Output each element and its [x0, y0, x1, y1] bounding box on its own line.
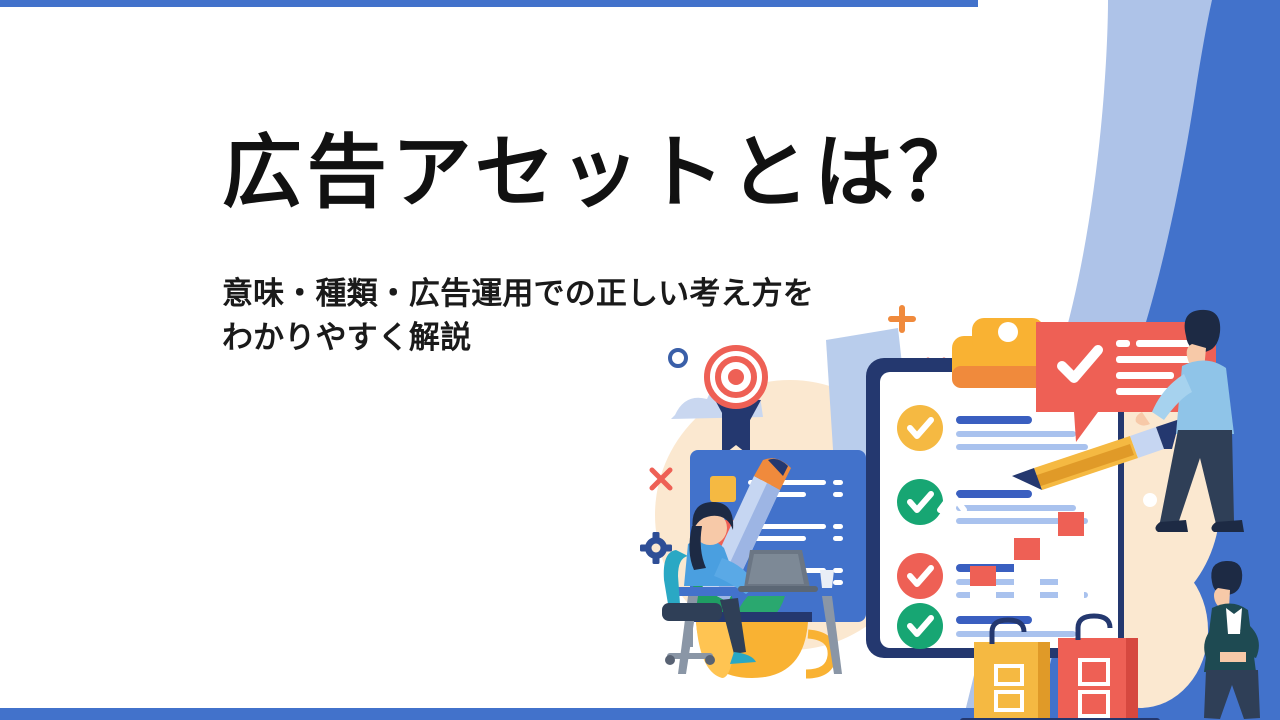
page-title: 広告アセットとは？ [222, 128, 962, 218]
shirt [1176, 360, 1234, 434]
decor-dot-white [1143, 493, 1157, 507]
hands [1220, 652, 1246, 662]
page-subtitle: 意味・種類・広告運用での正しい考え方を わかりやすく解説 [222, 272, 962, 360]
chair-seat [662, 603, 722, 621]
text-block: 広告アセットとは？ 意味・種類・広告運用での正しい考え方を わかりやすく解説 [222, 128, 962, 360]
subtitle-line-2: わかりやすく解説 [222, 316, 962, 360]
subtitle-line-1: 意味・種類・広告運用での正しい考え方を [222, 272, 962, 316]
laptop-base [738, 586, 818, 592]
desk-cup [820, 570, 834, 588]
list-swatch-1 [710, 476, 736, 502]
standing-man-dark-suit [1204, 561, 1260, 719]
top-accent-bar [0, 0, 978, 7]
slide-root: 広告アセットとは？ 意味・種類・広告運用での正しい考え方を わかりやすく解説 [0, 0, 1280, 720]
trousers [1204, 670, 1260, 719]
checklist-marketing-illustration [630, 300, 1280, 720]
